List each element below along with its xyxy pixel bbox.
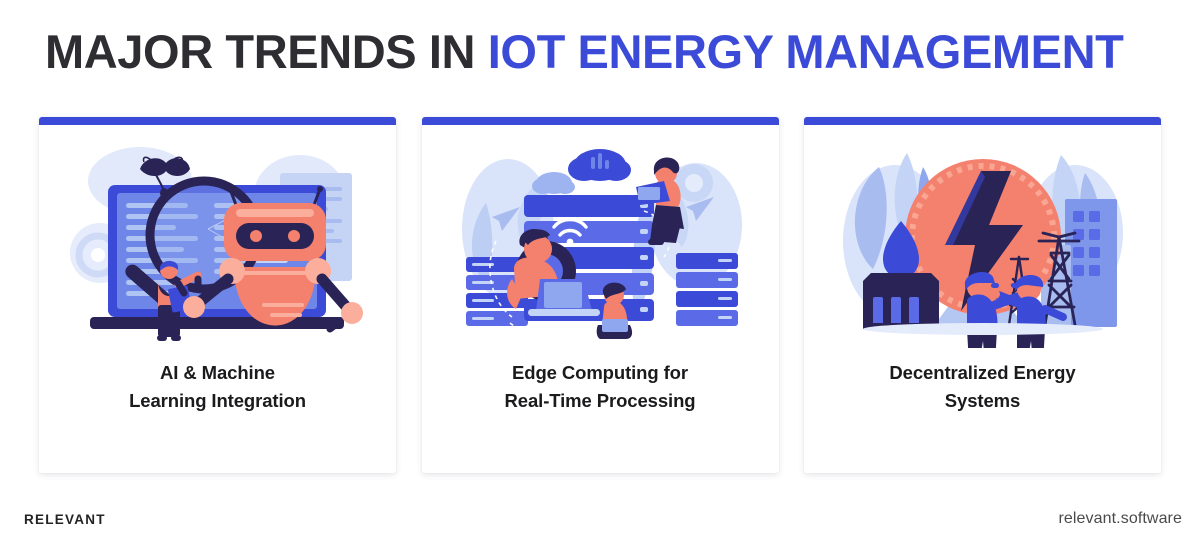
card-caption: AI & Machine Learning Integration bbox=[39, 355, 396, 473]
trend-card-decentralized-energy[interactable]: Decentralized Energy Systems bbox=[804, 117, 1161, 473]
card-caption-line2: Learning Integration bbox=[129, 390, 306, 411]
card-caption-line2: Real-Time Processing bbox=[505, 390, 696, 411]
card-caption: Decentralized Energy Systems bbox=[804, 355, 1161, 473]
page-title-primary: MAJOR TRENDS IN bbox=[45, 25, 488, 78]
robot-magnifier-laptop-illustration bbox=[39, 125, 396, 355]
card-caption-line2: Systems bbox=[945, 390, 1020, 411]
lightning-dam-pylons-illustration bbox=[804, 125, 1161, 355]
trend-card-list: AI & Machine Learning Integration bbox=[39, 117, 1161, 473]
card-caption-line1: AI & Machine bbox=[160, 362, 275, 383]
card-caption-line1: Edge Computing for bbox=[512, 362, 688, 383]
page-title: MAJOR TRENDS IN IOT ENERGY MANAGEMENT bbox=[45, 28, 1165, 75]
card-accent-bar bbox=[39, 117, 396, 125]
card-caption-line1: Decentralized Energy bbox=[889, 362, 1075, 383]
card-accent-bar bbox=[422, 117, 779, 125]
trend-card-ai-machine-learning[interactable]: AI & Machine Learning Integration bbox=[39, 117, 396, 473]
infographic-canvas: MAJOR TRENDS IN IOT ENERGY MANAGEMENT bbox=[0, 0, 1200, 548]
trend-card-edge-computing[interactable]: Edge Computing for Real-Time Processing bbox=[422, 117, 779, 473]
brand-logo: RELEVANT bbox=[24, 512, 106, 527]
website-url: relevant.software bbox=[1058, 510, 1182, 528]
server-racks-people-wifi-illustration bbox=[422, 125, 779, 355]
page-title-accent: IOT ENERGY MANAGEMENT bbox=[488, 25, 1124, 78]
card-caption: Edge Computing for Real-Time Processing bbox=[422, 355, 779, 473]
card-accent-bar bbox=[804, 117, 1161, 125]
